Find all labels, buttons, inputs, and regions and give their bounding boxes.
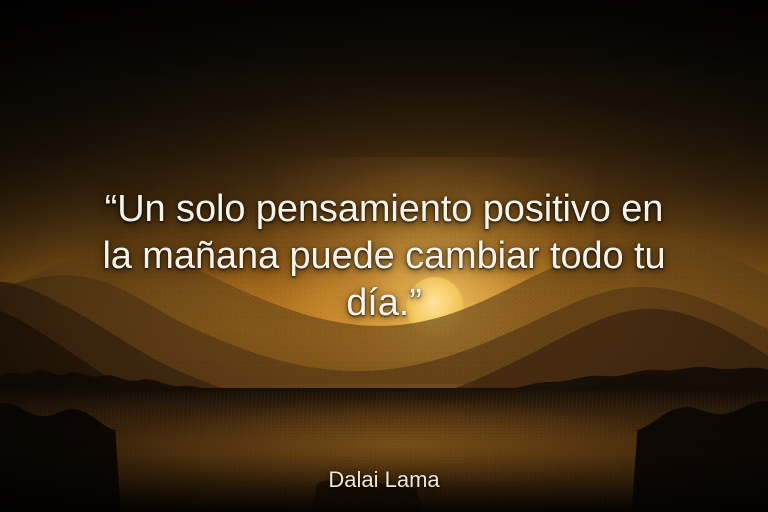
quote-card: “Un solo pensamiento positivo en la maña… [0, 0, 768, 512]
quote-author: Dalai Lama [0, 466, 768, 494]
quote-text: “Un solo pensamiento positivo en la maña… [28, 186, 740, 327]
text-overlay: “Un solo pensamiento positivo en la maña… [0, 0, 768, 512]
